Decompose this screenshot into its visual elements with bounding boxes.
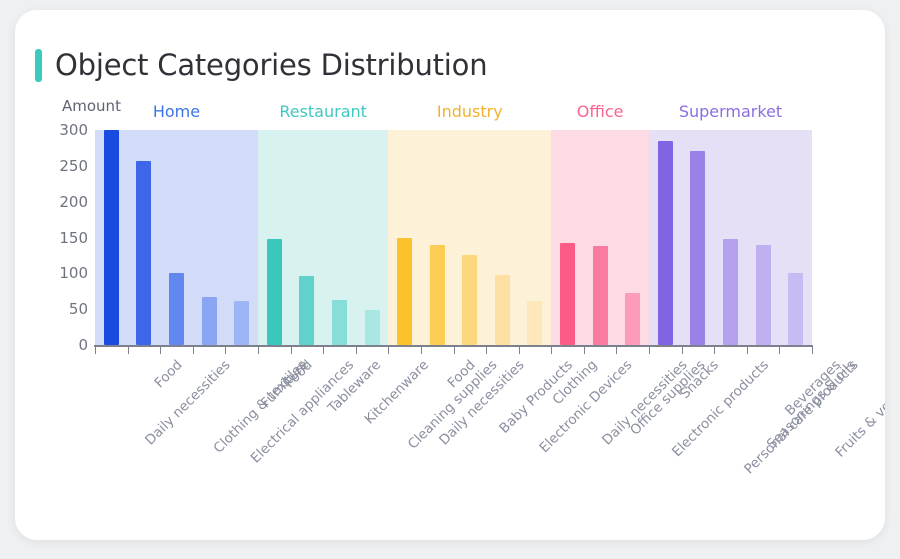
group-label-restaurant: Restaurant — [258, 102, 388, 121]
bar[interactable] — [462, 255, 477, 345]
bar[interactable] — [625, 293, 640, 345]
x-axis-tick-mark — [486, 345, 487, 354]
x-axis-tick-mark — [584, 345, 585, 354]
group-label-office: Office — [551, 102, 649, 121]
bar[interactable] — [756, 245, 771, 345]
x-axis-tick-mark — [291, 345, 292, 354]
x-axis-tick-mark — [747, 345, 748, 354]
group-label-industry: Industry — [388, 102, 551, 121]
x-axis-tick-mark — [193, 345, 194, 354]
bar[interactable] — [104, 130, 119, 345]
x-axis-tick-mark — [160, 345, 161, 354]
x-axis-tick-label: Food — [282, 357, 316, 391]
bar[interactable] — [430, 245, 445, 345]
x-axis-tick-mark — [551, 345, 552, 354]
y-axis-tick-label: 250 — [59, 157, 88, 175]
x-axis-tick-mark — [356, 345, 357, 354]
x-axis-tick-mark — [812, 345, 813, 354]
group-label-supermarket: Supermarket — [649, 102, 812, 121]
y-axis-tick-label: 150 — [59, 229, 88, 247]
bar[interactable] — [136, 161, 151, 345]
bar[interactable] — [234, 301, 249, 345]
x-axis-tick-mark — [258, 345, 259, 354]
x-axis-tick-mark — [421, 345, 422, 354]
bar-chart: Amount 050100150200250300 HomeRestaurant… — [15, 10, 885, 540]
bar[interactable] — [723, 239, 738, 345]
x-axis-tick-mark — [682, 345, 683, 354]
x-axis-tick-mark — [95, 345, 96, 354]
x-axis-tick-label: Food — [151, 357, 185, 391]
x-axis-tick-mark — [454, 345, 455, 354]
y-axis-tick-label: 50 — [69, 300, 88, 318]
y-axis-tick-label: 200 — [59, 193, 88, 211]
bar[interactable] — [560, 243, 575, 345]
bar[interactable] — [593, 246, 608, 345]
x-axis-tick-mark — [616, 345, 617, 354]
plot-area: 050100150200250300 — [95, 130, 812, 345]
bar[interactable] — [690, 151, 705, 345]
bar[interactable] — [267, 239, 282, 345]
group-label-home: Home — [95, 102, 258, 121]
bar[interactable] — [397, 238, 412, 346]
x-axis-tick-mark — [519, 345, 520, 354]
x-axis-tick-mark — [779, 345, 780, 354]
x-axis-tick-mark — [323, 345, 324, 354]
bar[interactable] — [299, 276, 314, 345]
y-axis-tick-label: 100 — [59, 264, 88, 282]
bar[interactable] — [332, 300, 347, 345]
bar[interactable] — [527, 301, 542, 345]
y-axis-tick-label: 300 — [59, 121, 88, 139]
x-axis-tick-mark — [649, 345, 650, 354]
chart-card: Object Categories Distribution Amount 05… — [15, 10, 885, 540]
x-axis-tick-mark — [388, 345, 389, 354]
bar[interactable] — [169, 273, 184, 345]
bar[interactable] — [495, 275, 510, 345]
bar[interactable] — [202, 297, 217, 345]
bar[interactable] — [658, 141, 673, 345]
x-axis-tick-mark — [225, 345, 226, 354]
bar[interactable] — [365, 310, 380, 345]
x-axis-tick-mark — [128, 345, 129, 354]
x-axis-tick-mark — [714, 345, 715, 354]
y-axis-tick-label: 0 — [78, 336, 88, 354]
bar[interactable] — [788, 273, 803, 345]
